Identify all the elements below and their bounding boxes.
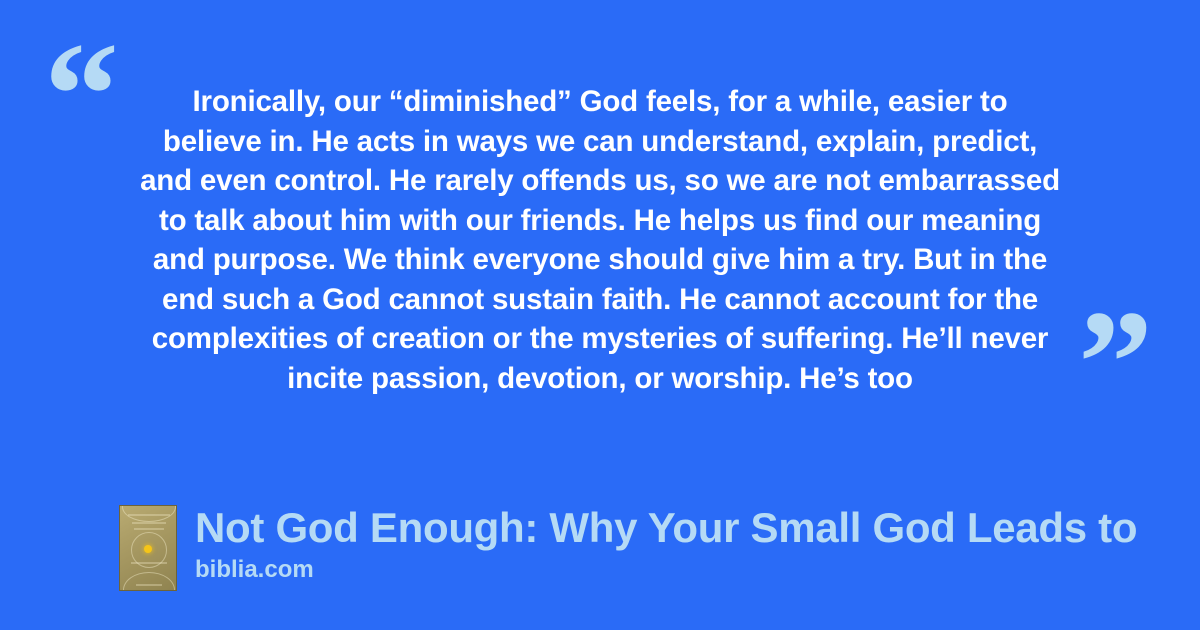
cover-text-line	[136, 584, 162, 586]
quote-line: and purpose. We think everyone should gi…	[100, 240, 1100, 280]
quote-card: “ Ironically, our “diminished” God feels…	[0, 0, 1200, 630]
source-domain: biblia.com	[195, 555, 1137, 585]
book-title: Not God Enough: Why Your Small God Leads…	[195, 505, 1137, 551]
cover-text-line	[131, 562, 167, 564]
quote-line: to talk about him with our friends. He h…	[100, 201, 1100, 241]
quote-text-block: Ironically, our “diminished” God feels, …	[100, 82, 1100, 398]
cover-center-dot-icon	[144, 545, 152, 553]
quote-line: complexities of creation or the mysterie…	[100, 319, 1100, 359]
cover-arc-top	[122, 505, 176, 522]
cover-arc-bottom	[123, 572, 175, 591]
book-cover-thumbnail	[119, 505, 177, 591]
footer-attribution: Not God Enough: Why Your Small God Leads…	[119, 505, 1200, 591]
quote-line: Ironically, our “diminished” God feels, …	[100, 82, 1100, 122]
quote-line: incite passion, devotion, or worship. He…	[100, 359, 1100, 399]
quote-line: end such a God cannot sustain faith. He …	[100, 280, 1100, 320]
quote-line: and even control. He rarely offends us, …	[100, 161, 1100, 201]
closing-quote-icon: ”	[1078, 288, 1151, 438]
quote-line: believe in. He acts in ways we can under…	[100, 122, 1100, 162]
cover-text-line	[132, 522, 166, 524]
footer-text-group: Not God Enough: Why Your Small God Leads…	[195, 505, 1137, 585]
cover-text-line	[134, 528, 164, 530]
